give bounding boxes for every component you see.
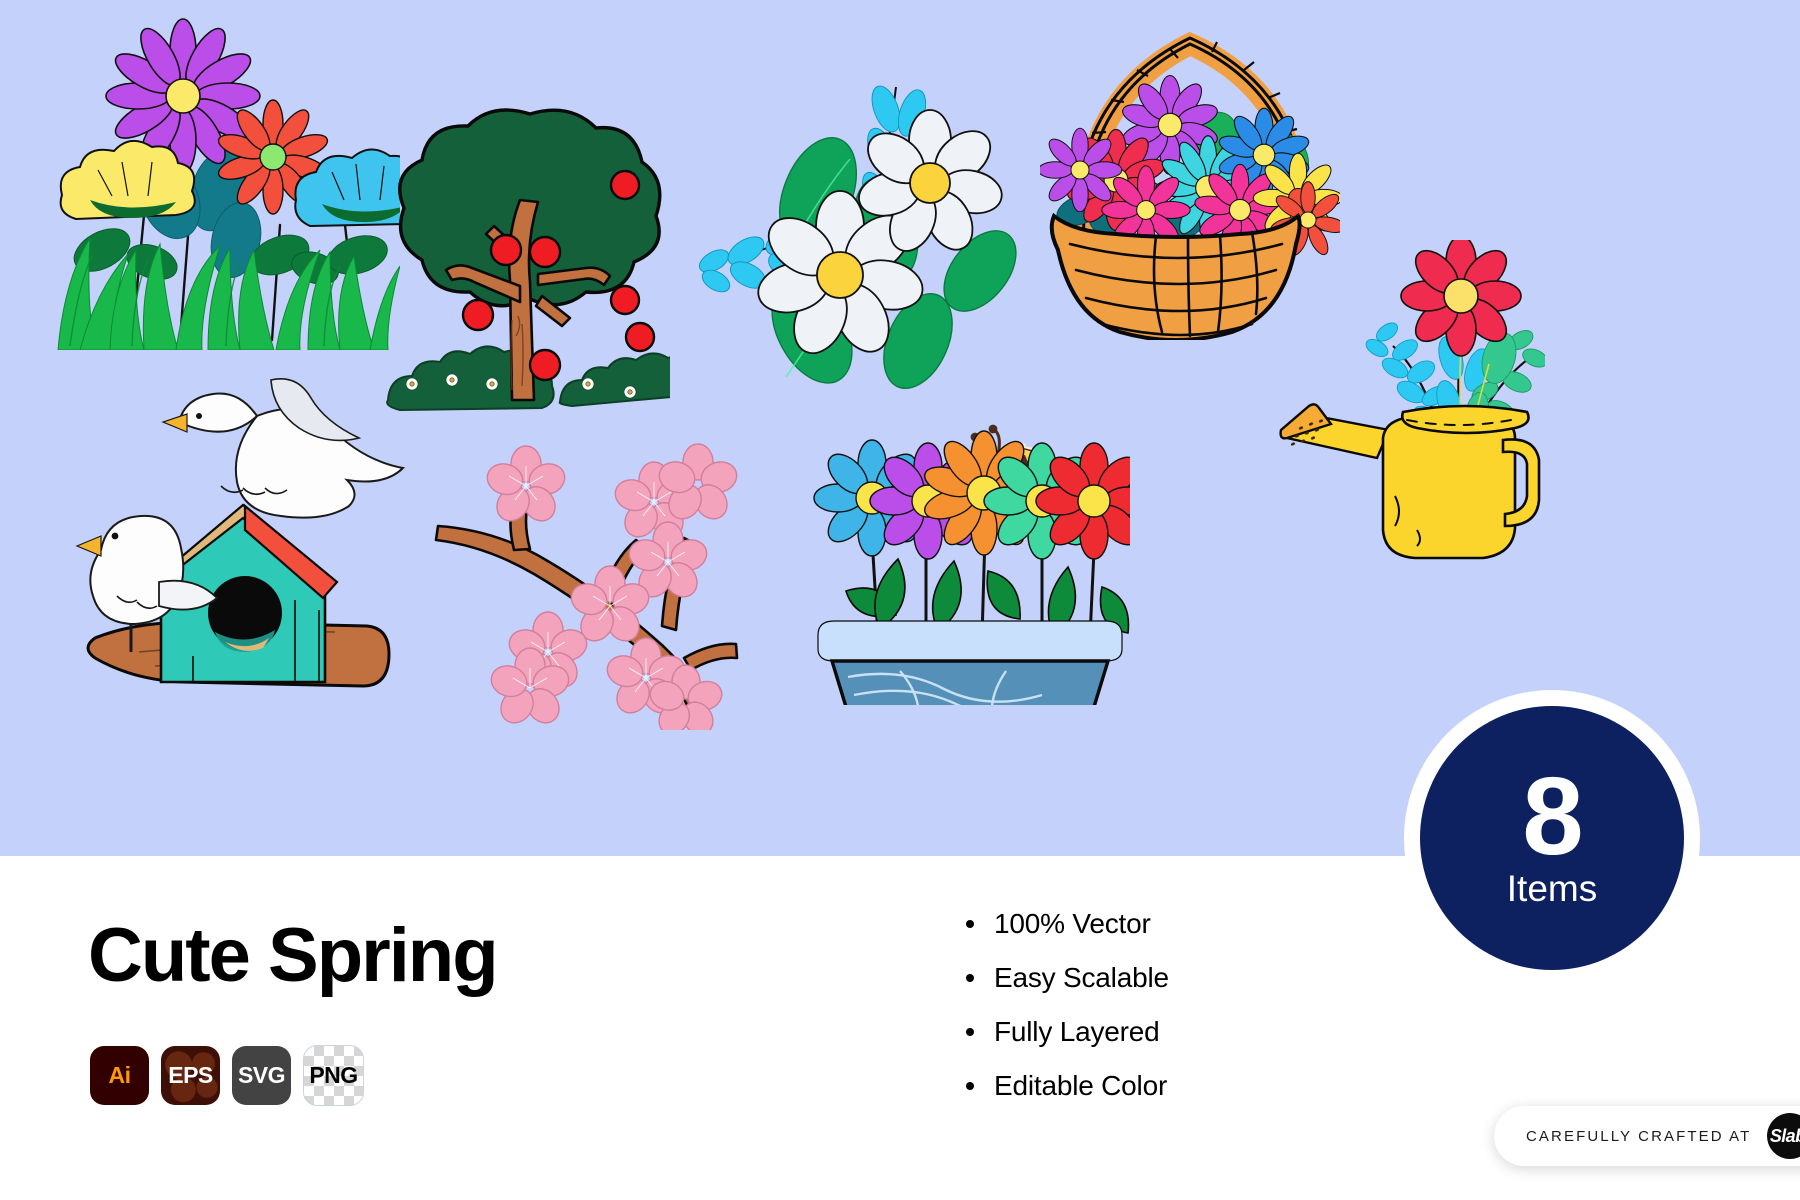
list-item: Fully Layered: [960, 1016, 1169, 1048]
cherry-blossom: [483, 444, 740, 730]
feature-list: 100% Vector Easy Scalable Fully Layered …: [960, 908, 1169, 1124]
items-label: Items: [1507, 869, 1597, 910]
format-badge-png[interactable]: PNG: [303, 1045, 364, 1106]
flower-yellow: [61, 141, 195, 219]
bullet-icon: [966, 1082, 974, 1090]
feature-text: Easy Scalable: [994, 962, 1169, 993]
flower-red: [1401, 240, 1521, 356]
poster: 8 Items Cute Spring Ai EPS SVG PNG 100% …: [0, 0, 1800, 1200]
page-title: Cute Spring: [88, 918, 497, 994]
illustration-birdhouse-with-doves: [75, 370, 405, 690]
format-label-png: PNG: [309, 1062, 357, 1089]
bullet-icon: [966, 920, 974, 928]
illustration-cherry-blossom-branch: [430, 440, 750, 730]
bullet-icon: [966, 974, 974, 982]
format-badge-svg[interactable]: SVG: [232, 1046, 291, 1105]
feature-text: Editable Color: [994, 1070, 1167, 1101]
illustration-flower-planter-box: [810, 395, 1130, 705]
list-item: 100% Vector: [960, 908, 1169, 940]
illustration-flower-garden-cluster: [40, 10, 400, 350]
format-label-svg: SVG: [238, 1062, 285, 1089]
feature-text: 100% Vector: [994, 908, 1151, 939]
crafted-text: CAREFULLY CRAFTED AT: [1526, 1128, 1751, 1145]
bullet-icon: [966, 1028, 974, 1036]
format-label-ai: Ai: [109, 1062, 131, 1089]
feature-text: Fully Layered: [994, 1016, 1159, 1047]
items-badge: 8 Items: [1420, 706, 1684, 970]
crafted-chip[interactable]: CAREFULLY CRAFTED AT Slab!: [1494, 1106, 1800, 1166]
format-badge-ai[interactable]: Ai: [90, 1046, 149, 1105]
list-item: Editable Color: [960, 1070, 1169, 1102]
format-badge-eps[interactable]: EPS: [161, 1046, 220, 1105]
list-item: Easy Scalable: [960, 962, 1169, 994]
format-label-eps: EPS: [168, 1062, 213, 1089]
format-badges: Ai EPS SVG PNG: [90, 1045, 364, 1106]
illustration-watering-can: [1245, 240, 1545, 560]
items-count: 8: [1522, 766, 1581, 867]
items-badge-ring: 8 Items: [1404, 690, 1700, 986]
illustration-white-daisies: [690, 85, 1020, 395]
watering-can-body: [1281, 404, 1539, 558]
illustration-apple-tree: [380, 100, 670, 430]
slab-logo: Slab!: [1767, 1113, 1800, 1159]
planter-box: [818, 621, 1122, 705]
dove-flying: [163, 379, 403, 518]
